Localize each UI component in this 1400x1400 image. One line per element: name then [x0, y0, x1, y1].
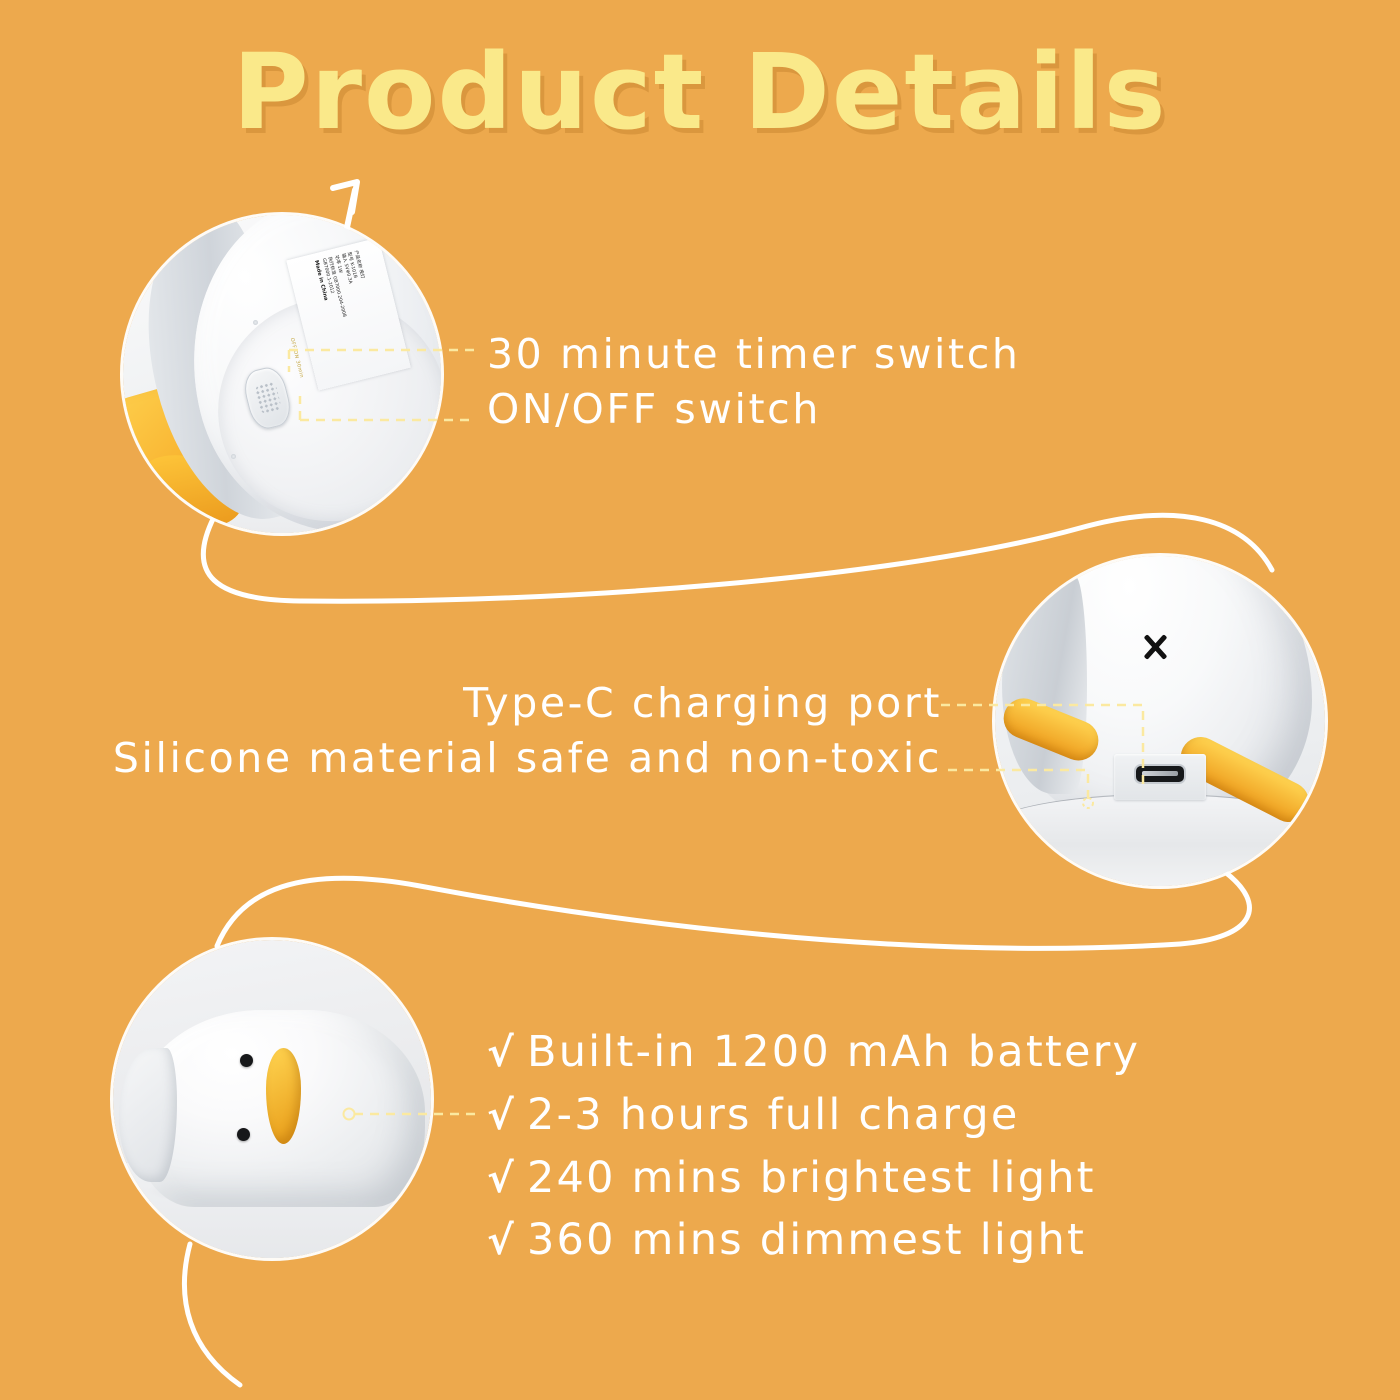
feature-label: 240 mins brightest light: [527, 1147, 1096, 1210]
list-item: √ 240 mins brightest light: [487, 1147, 1140, 1210]
switch-callout: 30 minute timer switch ON/OFF switch: [487, 327, 1020, 437]
callout-line-onoff-switch: ON/OFF switch: [487, 382, 1020, 437]
leader-endpoint-dot: [344, 1109, 355, 1120]
check-icon: √: [487, 1024, 527, 1082]
callout-line-timer-switch: 30 minute timer switch: [487, 327, 1020, 382]
port-callout: Type-C charging port Silicone material s…: [113, 676, 942, 786]
callout-line-silicone: Silicone material safe and non-toxic: [113, 731, 942, 786]
check-icon: √: [487, 1212, 527, 1270]
feature-label: 2-3 hours full charge: [527, 1084, 1020, 1147]
list-item: √ 360 mins dimmest light: [487, 1209, 1140, 1272]
feature-list: √ Built-in 1200 mAh battery √ 2-3 hours …: [487, 1021, 1140, 1272]
check-icon: √: [487, 1150, 527, 1208]
leader-line-typec-port: [941, 705, 1143, 785]
check-icon: √: [487, 1087, 527, 1145]
feature-label: 360 mins dimmest light: [527, 1209, 1086, 1272]
feature-label: Built-in 1200 mAh battery: [527, 1021, 1140, 1084]
list-item: √ Built-in 1200 mAh battery: [487, 1021, 1140, 1084]
list-item: √ 2-3 hours full charge: [487, 1084, 1140, 1147]
callout-line-typec-port: Type-C charging port: [113, 676, 942, 731]
leader-endpoint-dot: [1083, 798, 1093, 808]
leader-line-silicone: [948, 770, 1088, 800]
